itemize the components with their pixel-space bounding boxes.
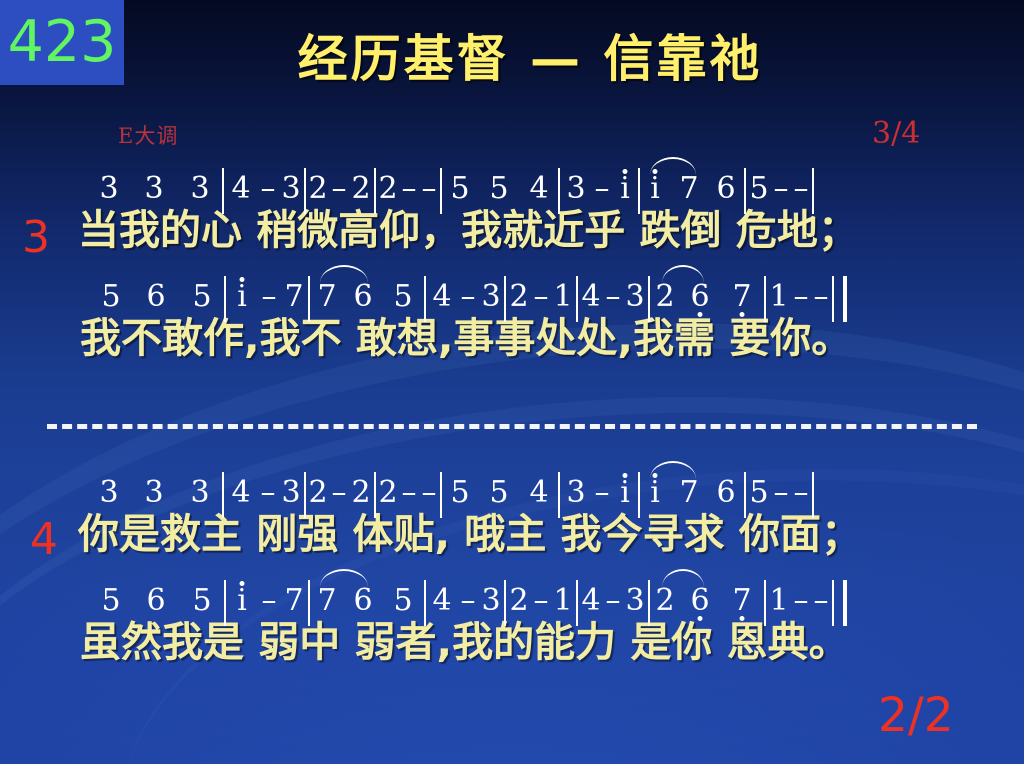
note-high-octave: i [650,475,660,510]
lyrics-line: 你是救主 刚强 体贴, 哦主 我今寻求 你面； [0,512,1024,558]
note-low-octave: 7 [732,279,751,314]
barline [812,168,814,214]
notation-line: 3 3 3 4 – 3 2 – 2 2 – – 5 5 4 3 – i i [0,462,1024,510]
lyrics-line: 我不敢作,我不 敢想,事事处处,我需 要你。 [0,316,1024,362]
note-low-octave: 6 [690,583,709,618]
final-barline [832,276,847,322]
hymn-slide: 423 经历基督 — 信靠祂 E大调 3/4 2/2 3 3 3 3 4 – 3… [0,0,1024,764]
notation-line: 5 6 5 i – 7 7 6 5 4 – 3 2 – 1 4 – 3 [0,266,1024,314]
note-high-octave: i [650,171,660,206]
stanza-block: 3 3 3 3 4 – 3 2 – 2 2 – – 5 5 4 3 – i [0,158,1024,362]
section-divider [47,424,977,429]
lyrics-line: 虽然我是 弱中 弱者,我的能力 是你 恩典。 [0,620,1024,666]
note-high-octave: i [620,171,630,206]
note-high-octave: i [620,475,630,510]
verse-number: 4 [30,518,58,562]
barline [812,472,814,518]
verse-number: 3 [22,216,50,260]
stanza-block: 4 3 3 3 4 – 3 2 – 2 2 – – 5 5 4 3 – i [0,462,1024,666]
notation-line: 3 3 3 4 – 3 2 – 2 2 – – 5 5 4 3 – i i [0,158,1024,206]
note-high-octave: i [237,583,247,618]
final-barline [832,580,847,626]
page-indicator: 2/2 [878,692,954,739]
note-low-octave: 6 [690,279,709,314]
hymn-number-text: 423 [8,14,117,71]
note-high-octave: i [237,279,247,314]
time-signature-label: 3/4 [872,116,920,151]
hymn-number-badge: 423 [0,0,124,85]
page-title: 经历基督 — 信靠祂 [200,32,860,87]
note-low-octave: 7 [732,583,751,618]
key-signature-label: E大调 [118,120,178,150]
notation-line: 5 6 5 i – 7 7 6 5 4 – 3 2 – 1 4 – 3 [0,570,1024,618]
lyrics-line: 当我的心 稍微高仰，我就近乎 跌倒 危地； [0,208,1024,254]
